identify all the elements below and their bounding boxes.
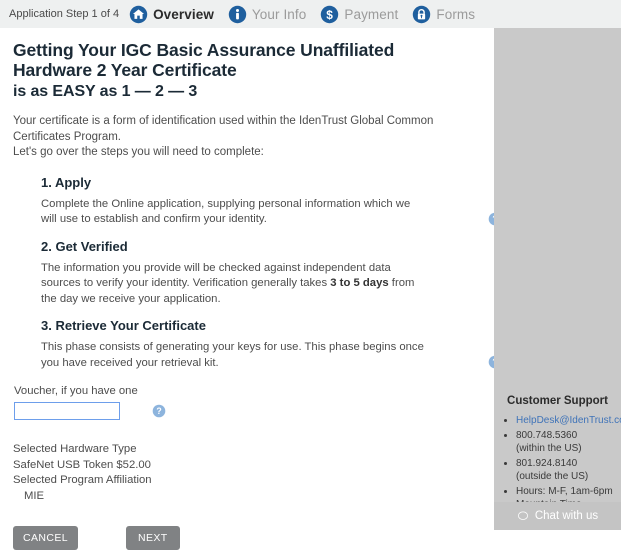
support-hours: Hours: M-F, 1am-6pm xyxy=(516,486,613,497)
list-item: 801.924.8140 (outside the US) xyxy=(516,457,621,484)
voucher-label: Voucher, if you have one xyxy=(14,385,480,397)
voucher-row: ? xyxy=(14,402,480,420)
nav-tab-your-info-label: Your Info xyxy=(252,7,306,22)
intro-line-2: Let's go over the steps you will need to… xyxy=(13,146,264,158)
application-step-bar: Application Step 1 of 4 Overview Your In… xyxy=(0,0,621,28)
step-2-body-emphasis: 3 to 5 days xyxy=(330,277,388,289)
voucher-section: Voucher, if you have one ? xyxy=(13,385,480,420)
intro-paragraph: Your certificate is a form of identifica… xyxy=(13,114,480,161)
selected-hardware-label: Selected Hardware Type xyxy=(13,442,480,458)
nav-tab-overview[interactable]: Overview xyxy=(129,5,214,24)
voucher-input[interactable] xyxy=(14,402,120,420)
help-icon[interactable]: ? xyxy=(152,404,166,418)
home-icon xyxy=(129,5,148,24)
step-1-body: Complete the Online application, supplyi… xyxy=(41,197,426,228)
step-block-get-verified: 2. Get Verified The information you prov… xyxy=(41,239,480,308)
helpdesk-email-link[interactable]: HelpDesk@IdenTrust.com xyxy=(516,415,621,426)
support-phone-us: 800.748.5360 xyxy=(516,430,577,441)
steps-list: 1. Apply Complete the Online application… xyxy=(13,175,480,372)
application-step-label: Application Step 1 of 4 xyxy=(9,8,119,20)
selected-affiliation-value: MIE xyxy=(13,489,480,505)
nav-tab-your-info[interactable]: Your Info xyxy=(228,5,306,24)
customer-support-list: HelpDesk@IdenTrust.com 800.748.5360 (wit… xyxy=(494,414,621,513)
step-block-apply: 1. Apply Complete the Online application… xyxy=(41,175,480,228)
page-title-line-3: is as EASY as 1 — 2 — 3 xyxy=(13,83,197,100)
nav-tab-forms-label: Forms xyxy=(436,7,475,22)
svg-text:?: ? xyxy=(156,406,161,416)
step-3-heading: 3. Retrieve Your Certificate xyxy=(41,318,480,333)
lock-icon xyxy=(412,5,431,24)
dollar-icon: $ xyxy=(320,5,339,24)
customer-support-panel: Customer Support HelpDesk@IdenTrust.com … xyxy=(494,28,621,530)
customer-support-title: Customer Support xyxy=(494,395,621,407)
chat-bubble-icon xyxy=(517,510,529,522)
support-phone-us-note: (within the US) xyxy=(516,442,621,456)
step-2-body: The information you provide will be chec… xyxy=(41,261,426,308)
selected-hardware-value: SafeNet USB Token $52.00 xyxy=(13,458,480,474)
main-content: Getting Your IGC Basic Assurance Unaffil… xyxy=(0,28,494,530)
list-item: HelpDesk@IdenTrust.com xyxy=(516,414,621,428)
selected-affiliation-label: Selected Program Affiliation xyxy=(13,473,480,489)
support-phone-intl: 801.924.8140 xyxy=(516,458,577,469)
step-block-retrieve-certificate: 3. Retrieve Your Certificate This phase … xyxy=(41,318,480,371)
chat-with-us-button[interactable]: Chat with us xyxy=(494,502,621,530)
nav-tab-payment-label: Payment xyxy=(344,7,398,22)
step-3-body: This phase consists of generating your k… xyxy=(41,340,426,371)
page-title-line-2: Hardware 2 Year Certificate xyxy=(13,60,237,80)
selections-summary: Selected Hardware Type SafeNet USB Token… xyxy=(13,442,480,504)
svg-text:$: $ xyxy=(327,7,334,21)
nav-tab-overview-label: Overview xyxy=(153,7,214,22)
step-2-heading: 2. Get Verified xyxy=(41,239,480,254)
nav-tab-payment[interactable]: $ Payment xyxy=(320,5,398,24)
page-title: Getting Your IGC Basic Assurance Unaffil… xyxy=(13,40,480,102)
support-phone-intl-note: (outside the US) xyxy=(516,470,621,484)
info-icon xyxy=(228,5,247,24)
intro-line-1: Your certificate is a form of identifica… xyxy=(13,115,433,143)
page-title-line-1: Getting Your IGC Basic Assurance Unaffil… xyxy=(13,40,394,60)
list-item: 800.748.5360 (within the US) xyxy=(516,429,621,456)
nav-tab-forms[interactable]: Forms xyxy=(412,5,475,24)
step-1-heading: 1. Apply xyxy=(41,175,480,190)
chat-with-us-label: Chat with us xyxy=(535,510,598,522)
